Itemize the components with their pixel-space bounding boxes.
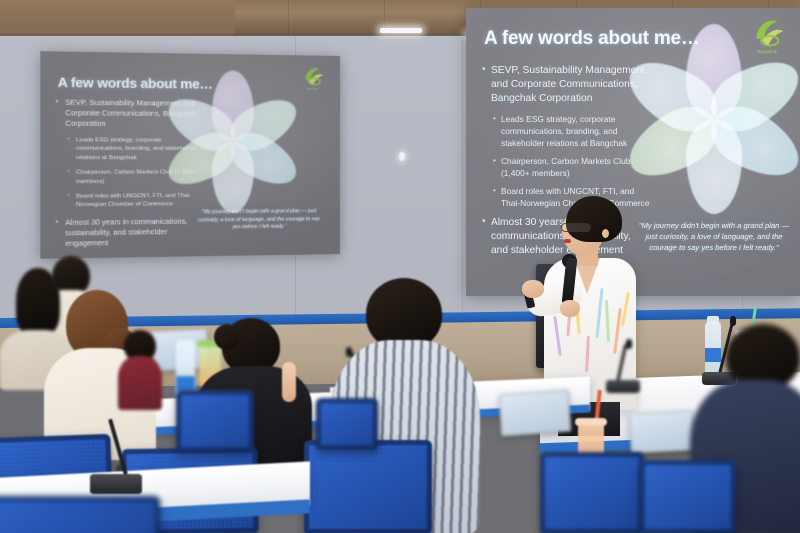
laptop bbox=[629, 410, 695, 453]
gooseneck-microphone bbox=[596, 344, 646, 392]
slide-sub-bullet: Chairperson, Carbon Markets Club (1,400+… bbox=[67, 169, 204, 187]
wall-light-dot bbox=[399, 152, 405, 161]
ceiling-light-strip bbox=[380, 28, 422, 33]
audience-chair bbox=[640, 460, 736, 533]
slide-sub-bullet: Leads ESG strategy, corporate communicat… bbox=[493, 113, 650, 149]
slide-sub-bullet: Chairperson, Carbon Markets Club (1,400+… bbox=[493, 155, 650, 179]
speaker-hand-with-clicker bbox=[522, 280, 544, 298]
petal-photo-collage bbox=[626, 24, 800, 214]
projection-screen-left: A few words about me… Bangchak SEVP, Sus… bbox=[40, 51, 340, 259]
slide-quote: "My journey didn't begin with a grand pl… bbox=[198, 208, 320, 232]
mic-stem bbox=[616, 344, 627, 384]
bangchak-logo: Bangchak bbox=[300, 63, 326, 91]
speaker-hand-with-mic bbox=[560, 300, 580, 317]
mic-base bbox=[606, 380, 640, 393]
speaker-lips bbox=[564, 239, 571, 243]
svg-text:Bangchak: Bangchak bbox=[307, 87, 320, 91]
laptop-screen bbox=[501, 392, 569, 435]
laptop-screen bbox=[631, 412, 693, 451]
attendee-hair-bun bbox=[214, 324, 240, 350]
attendee-maroon-top bbox=[118, 330, 162, 410]
speaker-glasses bbox=[561, 223, 591, 232]
audience-chair bbox=[304, 440, 432, 533]
slide-bullet: SEVP, Sustainability Management and Corp… bbox=[482, 64, 650, 106]
slide-bullet-list: SEVP, Sustainability Management and Corp… bbox=[56, 97, 205, 256]
mic-base bbox=[90, 474, 142, 494]
attendee-torso bbox=[118, 356, 162, 410]
speaker-hair bbox=[566, 196, 622, 242]
slide-left: A few words about me… Bangchak SEVP, Sus… bbox=[40, 51, 340, 259]
slide-quote: "My journey didn't begin with a grand pl… bbox=[638, 220, 790, 253]
slide-bullet: Almost 30 years in communications, susta… bbox=[56, 216, 205, 249]
audience-chair bbox=[540, 452, 644, 533]
slide-sub-bullet: Leads ESG strategy, corporate communicat… bbox=[67, 136, 204, 162]
slide-sub-bullet-list: Leads ESG strategy, corporate communicat… bbox=[493, 113, 650, 209]
audience-chair bbox=[316, 398, 378, 450]
mic-head bbox=[730, 316, 736, 326]
slide-sub-bullet-list: Leads ESG strategy, corporate communicat… bbox=[67, 136, 204, 210]
laptop bbox=[499, 390, 572, 437]
speaker-ear bbox=[602, 229, 609, 238]
audience-chair bbox=[0, 496, 160, 533]
slide-bullet: SEVP, Sustainability Management and Corp… bbox=[56, 97, 205, 129]
lecture-hall-photo: A few words about me… Bangchak SEVP, Sus… bbox=[0, 0, 800, 533]
mic-head bbox=[626, 339, 632, 349]
slide-sub-bullet: Board roles with UNGCNT, FTI, and Thai-N… bbox=[67, 192, 204, 210]
audience-chair bbox=[176, 390, 254, 452]
attendee-arm bbox=[282, 362, 296, 402]
